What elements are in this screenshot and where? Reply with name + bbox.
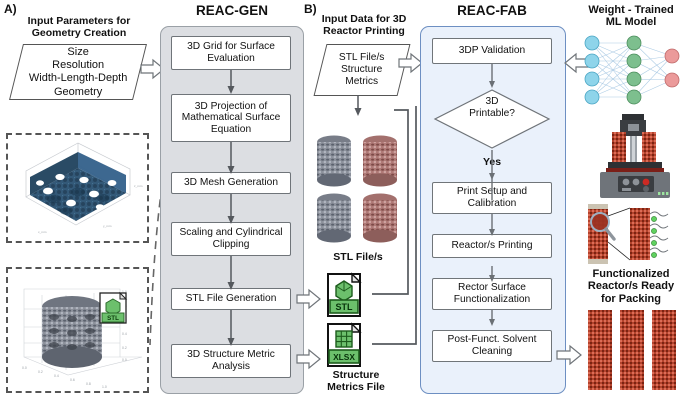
reac-fab-title: REAC-FAB	[424, 4, 560, 19]
geometry-input-parameters-text: Size Resolution Width-Length-Depth Geome…	[29, 46, 127, 99]
ml-input-layer-nodes	[585, 36, 599, 104]
svg-text:1.0: 1.0	[102, 385, 107, 389]
cylindrical-clipped-thumbnail: 1.00.80.6 0.40.20.0 0.00.20.4 0.60.81.0 …	[6, 267, 149, 393]
svg-text:STL: STL	[107, 315, 119, 322]
svg-text:0.2: 0.2	[122, 346, 127, 350]
section-a-input-heading: Input Parameters for Geometry Creation	[14, 16, 144, 40]
svg-text:y_mm: y_mm	[103, 224, 112, 228]
ml-hidden-layer-nodes	[627, 36, 641, 104]
svg-text:0.2: 0.2	[38, 370, 43, 374]
printing-input-data: STL File/s Structure Metrics	[314, 44, 411, 96]
reac-gen-title: REAC-GEN	[166, 4, 298, 19]
svg-text:x_mm: x_mm	[38, 230, 47, 234]
svg-text:0.4: 0.4	[54, 374, 59, 378]
gyroid-unit-cell-thumbnail: x_mmy_mmz_mm	[6, 133, 149, 243]
reac-gen-flow-arrows	[160, 26, 302, 392]
file-routing-lines	[358, 96, 424, 356]
ml-model-title: Weight - Trained ML Model	[578, 4, 684, 29]
ml-output-layer-nodes	[665, 49, 679, 87]
cylindrical-clipped-reactor-3d-plot: 1.00.80.6 0.40.20.0 0.00.20.4 0.60.81.0 …	[8, 269, 147, 391]
geometry-input-parameters: Size Resolution Width-Length-Depth Geome…	[9, 44, 147, 100]
arrow-stl-generation-to-stl-file	[296, 288, 322, 310]
svg-text:0.0: 0.0	[22, 366, 27, 370]
resin-3d-printer-photo	[588, 110, 680, 202]
svg-text:0.8: 0.8	[86, 382, 91, 386]
arrow-metrics-to-xlsx-file	[296, 348, 322, 370]
gyroid-unit-cell-3d-plot: x_mmy_mmz_mm	[8, 135, 147, 241]
neural-network-diagram	[582, 34, 682, 106]
section-b-input-heading: Input Data for 3D Reactor Printing	[306, 14, 422, 38]
section-a-letter: A)	[4, 2, 17, 16]
svg-text:0.0: 0.0	[122, 358, 127, 362]
final-reactors-photo	[586, 310, 682, 392]
reac-fab-flow-arrows	[420, 26, 564, 392]
surface-functionalization-illustration	[586, 204, 682, 266]
arrow-reacfab-to-final-reactors	[556, 344, 584, 366]
stl-badge-label: STL	[336, 302, 354, 312]
xlsx-badge-label: XLSX	[333, 352, 355, 362]
functionalized-reactors-title: Functionalized Reactor/s Ready for Packi…	[578, 268, 684, 305]
metrics-file-caption: Structure Metrics File	[300, 370, 412, 394]
svg-text:0.4: 0.4	[122, 332, 127, 336]
printing-input-data-text: STL File/s Structure Metrics	[339, 52, 384, 89]
svg-text:0.6: 0.6	[70, 378, 75, 382]
stl-file-icon-inline: STL	[100, 293, 126, 323]
